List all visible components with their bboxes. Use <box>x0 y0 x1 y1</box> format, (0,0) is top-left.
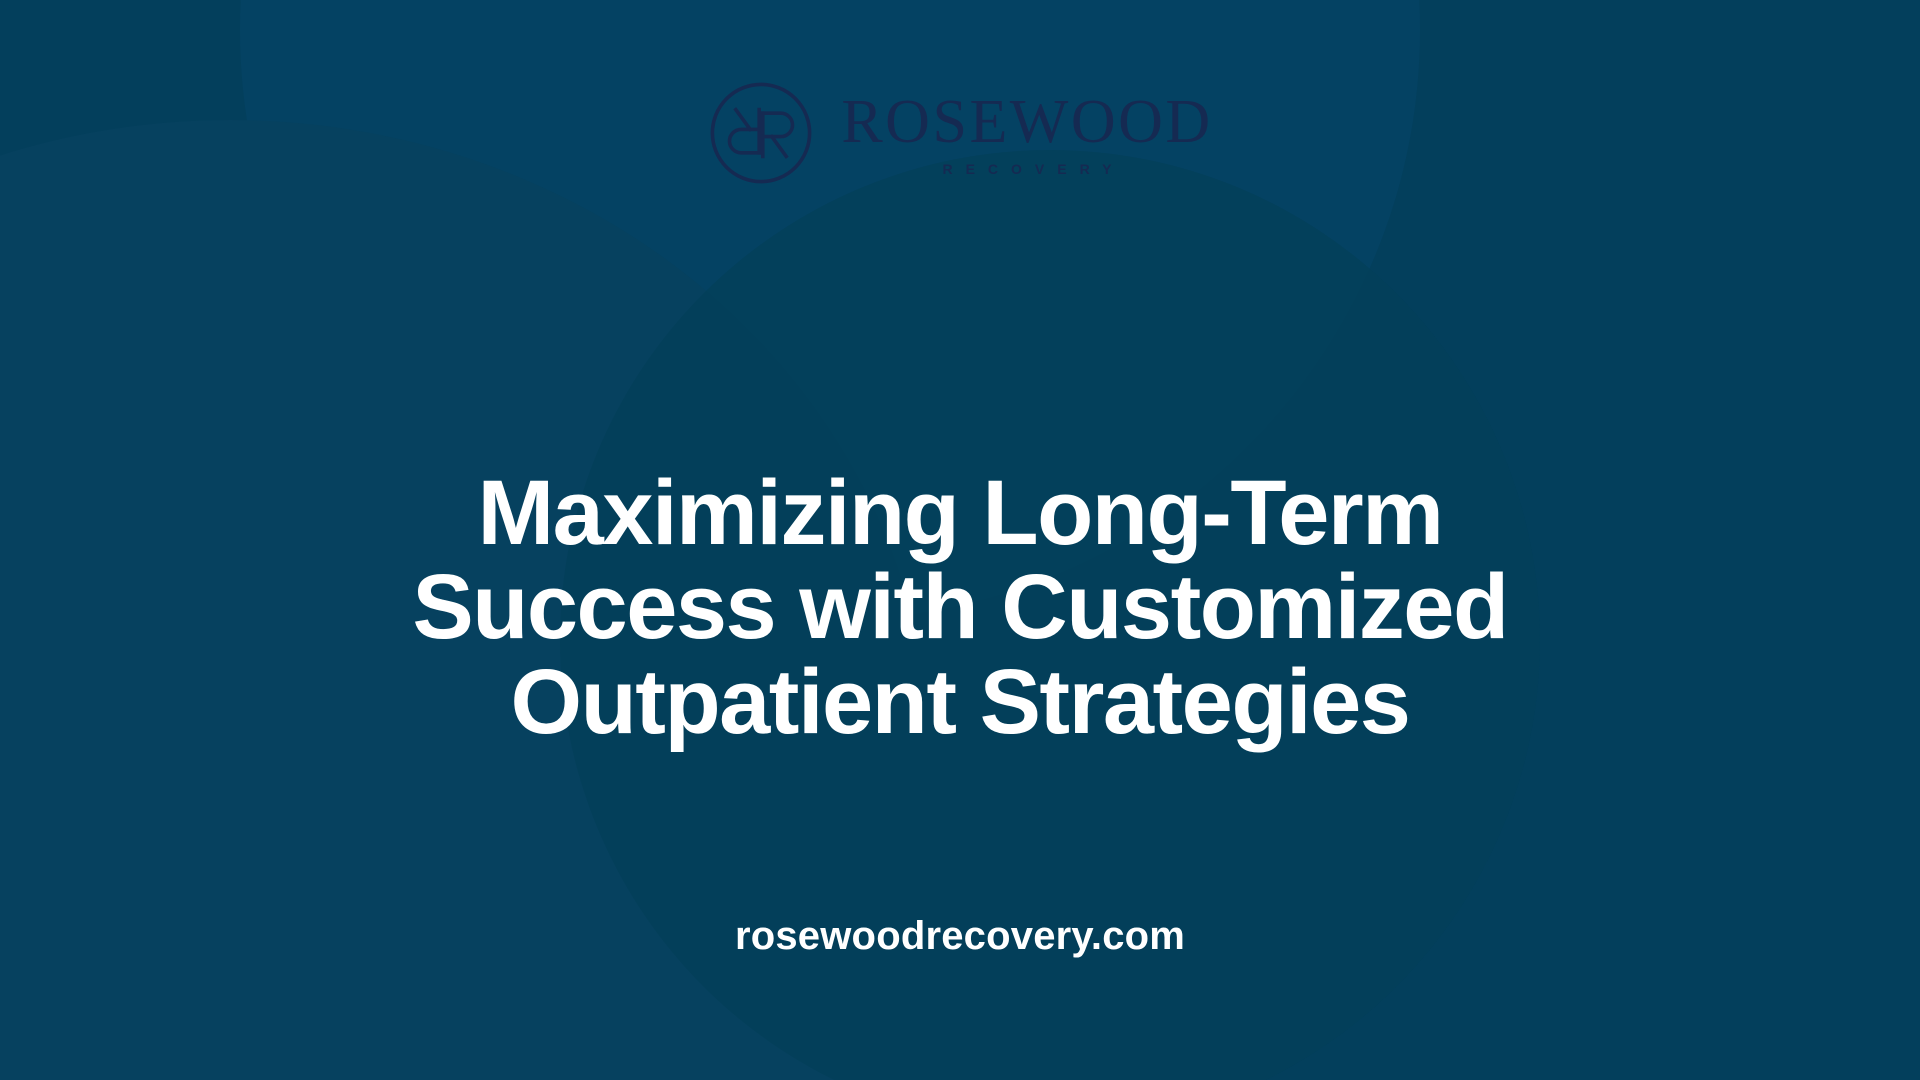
page-title: Maximizing Long-Term Success with Custom… <box>210 466 1710 750</box>
title-line-2: Success with Customized <box>210 560 1710 655</box>
rosewood-monogram-icon <box>707 79 815 187</box>
brand-wordmark-group: ROSEWOOD RECOVERY <box>841 89 1212 178</box>
title-line-3: Outpatient Strategies <box>210 655 1710 750</box>
brand-wordmark: ROSEWOOD <box>841 93 1212 153</box>
brand-sub-wordmark: RECOVERY <box>942 161 1124 177</box>
social-share-card: ROSEWOOD RECOVERY Maximizing Long-Term S… <box>0 0 1920 1080</box>
brand-logo-lockup: ROSEWOOD RECOVERY <box>0 78 1920 188</box>
title-line-1: Maximizing Long-Term <box>210 466 1710 561</box>
website-url: rosewoodrecovery.com <box>735 914 1185 959</box>
